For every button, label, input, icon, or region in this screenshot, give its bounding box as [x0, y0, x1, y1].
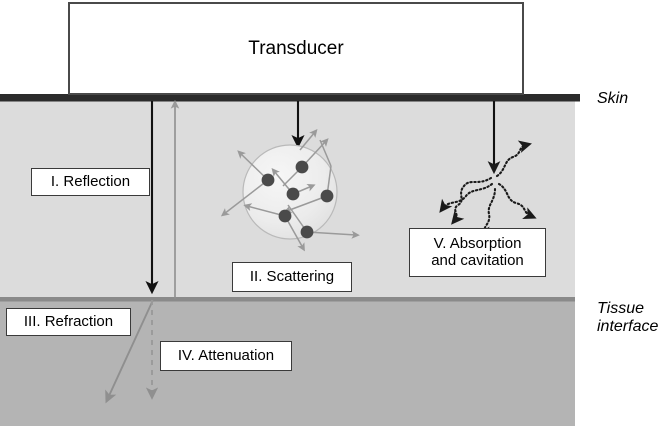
tissue-interface-line	[0, 297, 575, 302]
ultrasound-interaction-diagram: Transducer I. Reflection II. Scattering …	[0, 0, 660, 429]
label-absorption-cavitation: V. Absorption and cavitation	[409, 228, 546, 277]
label-attenuation: IV. Attenuation	[160, 341, 292, 371]
label-refraction: III. Refraction	[6, 308, 131, 336]
scatterer-dot	[279, 210, 292, 223]
scatterer-dot	[262, 174, 275, 187]
side-note-tissue-interface: Tissue interface	[597, 300, 658, 337]
side-note-skin: Skin	[597, 90, 628, 108]
label-scattering: II. Scattering	[232, 262, 352, 292]
scatterer-dot	[296, 161, 309, 174]
scatterer-dot	[287, 188, 300, 201]
scatterer-dot	[301, 226, 314, 239]
label-reflection: I. Reflection	[31, 168, 150, 196]
transducer-box: Transducer	[68, 2, 524, 95]
skin-line	[0, 94, 580, 102]
scatterer-dot	[321, 190, 334, 203]
